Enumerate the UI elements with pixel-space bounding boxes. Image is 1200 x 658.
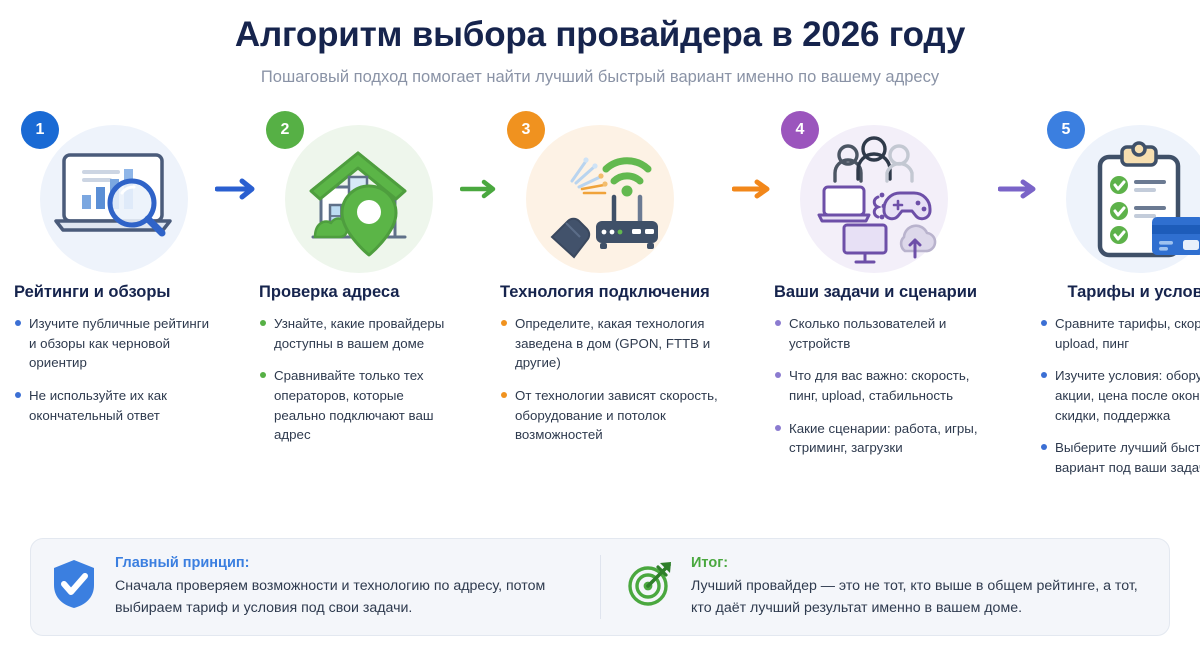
step-4-badge: 4 [781, 111, 819, 149]
arrow-step-2-to-3 [460, 107, 500, 272]
footer-result: Итог: Лучший провайдер — это не тот, кто… [600, 555, 1149, 619]
arrow-right-icon [460, 178, 500, 200]
step-2-illustration: 2 [259, 107, 460, 272]
page-subtitle: Пошаговый подход помогает найти лучший б… [0, 68, 1200, 87]
footer-principle-text: Сначала проверяем возможности и технолог… [115, 576, 600, 619]
step-2-heading: Проверка адреса [259, 282, 459, 303]
arrow-right-icon [215, 178, 259, 200]
step-3-heading: Технология подключения [500, 282, 732, 303]
step-2-bullets: Узнайте, какие провайдеры доступны в ваш… [259, 314, 459, 445]
arrow-step-1-to-2 [215, 107, 259, 272]
arrow-step-4-to-5 [998, 107, 1040, 272]
step-2-badge: 2 [266, 111, 304, 149]
step-2: 2 Проверка адреса Узнайте, какие провайд… [259, 107, 460, 459]
step-3-illustration: 3 [500, 107, 732, 272]
list-item: Сравните тарифы, скорость, upload, пинг [1040, 314, 1200, 353]
infographic-page: Алгоритм выбора провайдера в 2026 году П… [0, 0, 1200, 658]
step-3: 3 Технология подключения Определите, как… [500, 107, 732, 459]
clipboard-checklist-card-icon [1066, 125, 1200, 273]
step-4: 4 Ваши задачи и сценарии Сколько пользов… [774, 107, 998, 472]
page-title: Алгоритм выбора провайдера в 2026 году [0, 16, 1200, 55]
step-4-illustration: 4 [774, 107, 998, 272]
list-item: Определите, какая технология заведена в … [500, 314, 732, 373]
step-5-badge: 5 [1047, 111, 1085, 149]
step-1: 1 Рейтинги и обзоры Изучите публичные ре… [14, 107, 215, 439]
shield-check-icon [51, 555, 99, 615]
step-1-bullets: Изучите публичные рейтинги и обзоры как … [14, 314, 214, 425]
list-item: Выберите лучший быстрый вариант под ваши… [1040, 438, 1200, 477]
list-item: Сколько пользователей и устройств [774, 314, 998, 353]
users-devices-icon [800, 125, 948, 273]
footer-principle-label: Главный принцип: [115, 555, 600, 571]
house-location-pin-icon [285, 125, 433, 273]
arrow-right-icon [998, 178, 1040, 200]
step-1-badge: 1 [21, 111, 59, 149]
step-5: 5 Тарифы и условия Сравните тарифы, скор… [1040, 107, 1200, 491]
laptop-chart-magnifier-icon [40, 125, 188, 273]
step-5-illustration: 5 [1040, 107, 1200, 272]
list-item: Узнайте, какие провайдеры доступны в ваш… [259, 314, 459, 353]
list-item: Изучите публичные рейтинги и обзоры как … [14, 314, 214, 373]
list-item: От технологии зависят скорость, оборудов… [500, 386, 732, 445]
step-5-bullets: Сравните тарифы, скорость, upload, пинг … [1040, 314, 1200, 478]
step-4-bullets: Сколько пользователей и устройств Что дл… [774, 314, 998, 458]
footer-result-label: Итог: [691, 555, 1149, 571]
list-item: Не используйте их как окончательный отве… [14, 386, 214, 425]
footer-result-text: Лучший провайдер — это не тот, кто выше … [691, 576, 1149, 619]
target-arrow-icon [627, 555, 675, 613]
footer-panel: Главный принцип: Сначала проверяем возмо… [30, 538, 1170, 636]
list-item: Изучите условия: оборудование, акции, це… [1040, 366, 1200, 425]
step-5-heading: Тарифы и условия [1040, 282, 1200, 303]
header: Алгоритм выбора провайдера в 2026 году П… [0, 0, 1200, 87]
steps-row: 1 Рейтинги и обзоры Изучите публичные ре… [0, 107, 1200, 491]
list-item: Сравнивайте только тех операторов, котор… [259, 366, 459, 445]
step-3-badge: 3 [507, 111, 545, 149]
list-item: Какие сценарии: работа, игры, стриминг, … [774, 419, 998, 458]
arrow-step-3-to-4 [732, 107, 774, 272]
step-1-heading: Рейтинги и обзоры [14, 282, 214, 303]
step-1-illustration: 1 [14, 107, 215, 272]
footer-principle: Главный принцип: Сначала проверяем возмо… [51, 555, 600, 619]
step-3-bullets: Определите, какая технология заведена в … [500, 314, 732, 445]
arrow-right-icon [732, 178, 774, 200]
step-4-heading: Ваши задачи и сценарии [774, 282, 998, 303]
fiber-cable-router-wifi-icon [526, 125, 674, 273]
list-item: Что для вас важно: скорость, пинг, uploa… [774, 366, 998, 405]
